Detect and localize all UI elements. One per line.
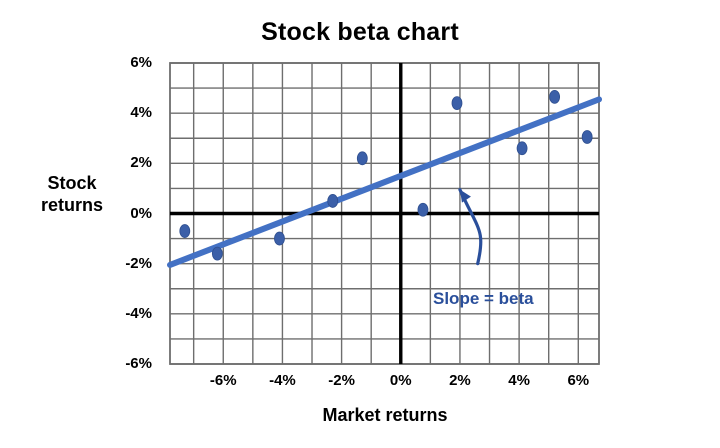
slope-annotation-label: Slope = beta — [433, 289, 534, 309]
stock-beta-chart: Stock beta chart Stockreturns Market ret… — [0, 0, 720, 448]
plot-area — [0, 0, 720, 448]
axis-lines — [170, 63, 599, 364]
slope-arrow-icon — [460, 190, 481, 264]
trendline — [170, 99, 599, 265]
